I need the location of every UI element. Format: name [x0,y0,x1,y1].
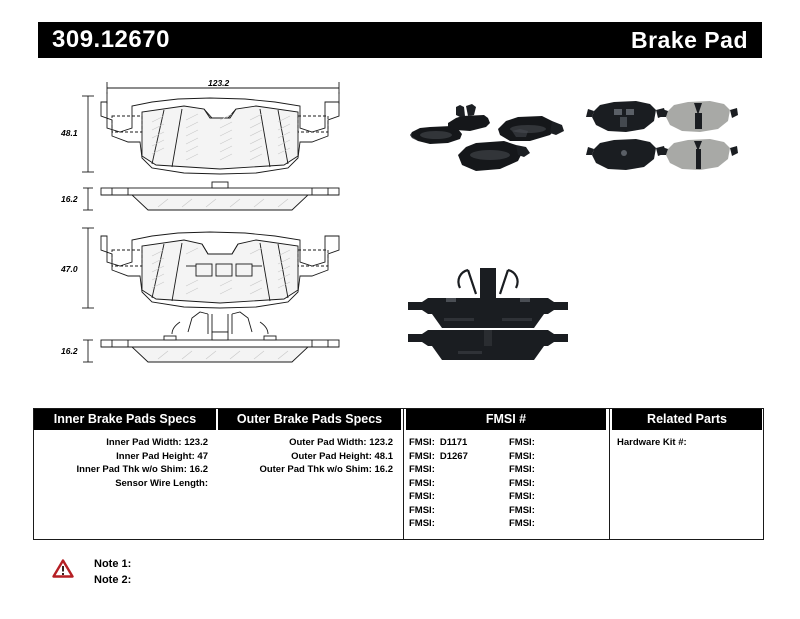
fmsi-row: FMSI: [509,450,609,464]
fmsi-label: FMSI: [509,437,535,448]
column-body-inner-specs: Inner Pad Width: 123.2 Inner Pad Height:… [34,430,218,490]
fmsi-label: FMSI: [409,478,435,489]
table-column-fmsi: FMSI # FMSI:D1171 FMSI:D1267 FMSI: FMSI:… [403,409,609,539]
table-column-related-parts: Related Parts Hardware Kit #: [609,409,764,539]
product-photo-pad-pair-edge [398,258,578,366]
dim-inner-pad-height: 47.0 [61,264,78,274]
column-body-related-parts: Hardware Kit #: [609,430,764,450]
fmsi-label: FMSI: [409,505,435,516]
fmsi-row: FMSI:D1171 [409,436,509,450]
fmsi-row: FMSI: [509,436,609,450]
fmsi-row: FMSI: [409,504,509,518]
spec-outer-pad-width: Outer Pad Width: 123.2 [218,436,403,450]
spec-outer-pad-height: Outer Pad Height: 48.1 [218,450,403,464]
fmsi-row: FMSI: [509,463,609,477]
dim-outer-pad-width: 123.2 [208,78,229,88]
notes-section: Note 1: Note 2: [52,556,131,588]
fmsi-label: FMSI: [409,491,435,502]
fmsi-row: FMSI: [409,463,509,477]
fmsi-label: FMSI: [409,451,435,462]
fmsi-row: FMSI: [409,517,509,531]
fmsi-row: FMSI: [509,477,609,491]
column-header-fmsi: FMSI # [406,409,606,430]
table-column-outer-specs: Outer Brake Pads Specs Outer Pad Width: … [218,409,403,539]
fmsi-label: FMSI: [509,491,535,502]
specifications-table: Inner Brake Pads Specs Inner Pad Width: … [33,408,764,540]
column-body-outer-specs: Outer Pad Width: 123.2 Outer Pad Height:… [218,430,403,477]
product-type-label: Brake Pad [631,29,748,52]
product-photo-pad-set-angled [400,85,580,185]
technical-drawings-panel: 123.2 48.1 1 [60,72,380,382]
fmsi-sublist-right: FMSI: FMSI: FMSI: FMSI: FMSI: FMSI: FMSI… [509,436,609,531]
inner-pad-side-drawing [60,330,380,378]
fmsi-row: FMSI: [509,517,609,531]
note-2: Note 2: [94,572,131,588]
warning-triangle-icon [52,559,74,578]
fmsi-row: FMSI: [409,490,509,504]
fmsi-row: FMSI: [509,490,609,504]
fmsi-row: FMSI:D1267 [409,450,509,464]
fmsi-sublist-left: FMSI:D1171 FMSI:D1267 FMSI: FMSI: FMSI: … [409,436,509,531]
part-number: 309.12670 [52,28,170,52]
spec-inner-pad-width: Inner Pad Width: 123.2 [34,436,218,450]
fmsi-label: FMSI: [509,464,535,475]
dim-outer-pad-thickness: 16.2 [61,194,78,204]
fmsi-label: FMSI: [409,464,435,475]
spec-sensor-wire-length: Sensor Wire Length: [34,477,218,491]
fmsi-row: FMSI: [509,504,609,518]
fmsi-label: FMSI: [409,518,435,529]
fmsi-label: FMSI: [509,451,535,462]
outer-pad-face-drawing [60,72,380,180]
table-column-inner-specs: Inner Brake Pads Specs Inner Pad Width: … [34,409,218,539]
dim-inner-pad-thickness: 16.2 [61,346,78,356]
fmsi-label: FMSI: [509,478,535,489]
related-part-hardware-kit: Hardware Kit #: [609,436,764,450]
inner-pad-face-drawing [60,214,380,334]
spec-inner-pad-height: Inner Pad Height: 47 [34,450,218,464]
spec-outer-pad-thickness: Outer Pad Thk w/o Shim: 16.2 [218,463,403,477]
fmsi-value: D1267 [440,451,468,462]
note-1: Note 1: [94,556,131,572]
spec-inner-pad-thickness: Inner Pad Thk w/o Shim: 16.2 [34,463,218,477]
product-photo-pad-set-grid [578,95,738,185]
fmsi-label: FMSI: [509,518,535,529]
column-header-inner-specs: Inner Brake Pads Specs [34,409,216,430]
note-list: Note 1: Note 2: [94,556,131,588]
fmsi-label: FMSI: [409,437,435,448]
column-header-related-parts: Related Parts [612,409,762,430]
fmsi-value: D1171 [440,437,467,448]
fmsi-row: FMSI: [409,477,509,491]
dim-outer-pad-height: 48.1 [61,128,78,138]
column-header-outer-specs: Outer Brake Pads Specs [218,409,401,430]
column-body-fmsi: FMSI:D1171 FMSI:D1267 FMSI: FMSI: FMSI: … [403,430,609,531]
title-bar: 309.12670 Brake Pad [38,22,762,58]
fmsi-label: FMSI: [509,505,535,516]
